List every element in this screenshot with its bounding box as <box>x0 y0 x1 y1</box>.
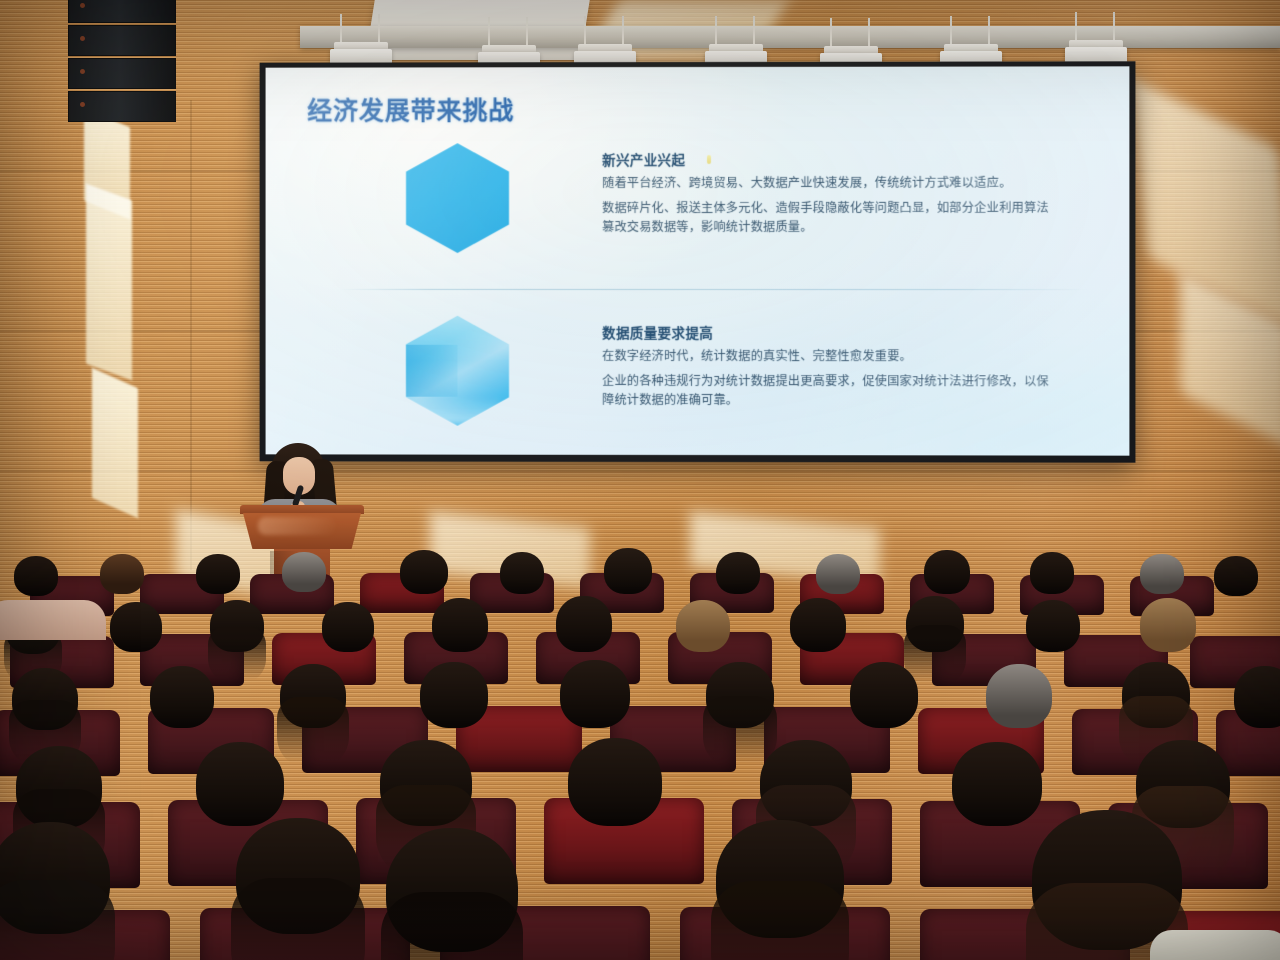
audience-head <box>676 600 730 652</box>
audience-head <box>906 596 964 652</box>
audience-head <box>1214 556 1258 596</box>
ceiling-truss <box>300 26 1280 48</box>
auditorium-scene: 经济发展带来挑战 新兴产业兴起 随着平台经济、跨境贸易、大数据产业快速发展，传统… <box>0 0 1280 960</box>
section-1-heading-text: 新兴产业兴起 <box>602 149 685 169</box>
hexagon-flat-icon <box>395 139 520 257</box>
audience-head <box>604 548 652 594</box>
audience-head <box>760 740 852 826</box>
audience-head <box>986 664 1052 728</box>
audience-head <box>1140 554 1184 594</box>
audience-head <box>952 742 1042 826</box>
speaker-module <box>68 0 176 23</box>
audience <box>0 540 1280 960</box>
audience-head <box>420 662 488 728</box>
audience-coat <box>1150 930 1280 960</box>
sunlight-patch <box>92 368 138 518</box>
projection-screen: 经济发展带来挑战 新兴产业兴起 随着平台经济、跨境贸易、大数据产业快速发展，传统… <box>260 61 1136 462</box>
audience-head <box>236 818 360 934</box>
presentation-slide: 经济发展带来挑战 新兴产业兴起 随着平台经济、跨境贸易、大数据产业快速发展，传统… <box>266 66 1130 455</box>
audience-head <box>12 668 78 730</box>
section-2-paragraph-1: 在数字经济时代，统计数据的真实性、完整性愈发重要。 <box>602 347 1061 366</box>
audience-head <box>1030 552 1074 594</box>
audience-head <box>432 598 488 652</box>
audience-head <box>322 602 374 652</box>
audience-head <box>1122 662 1190 728</box>
audience-head <box>560 660 630 728</box>
laser-pointer-dot <box>707 154 711 163</box>
section-divider <box>339 289 1089 290</box>
audience-head <box>14 556 58 596</box>
slide-section-2: 数据质量要求提高 在数字经济时代，统计数据的真实性、完整性愈发重要。 企业的各种… <box>395 312 1061 431</box>
audience-head <box>386 828 518 952</box>
audience-head <box>280 664 346 728</box>
audience-head <box>1026 600 1080 652</box>
audience-head <box>924 550 970 594</box>
audience-head <box>0 822 110 934</box>
speaker-module <box>68 91 176 122</box>
audience-head <box>196 742 284 826</box>
audience-head <box>282 552 326 592</box>
slide-section-1: 新兴产业兴起 随着平台经济、跨境贸易、大数据产业快速发展，传统统计方式难以适应。… <box>395 139 1061 257</box>
section-1-heading: 新兴产业兴起 <box>602 149 1061 169</box>
section-2-heading: 数据质量要求提高 <box>602 322 1061 342</box>
audience-coat <box>0 600 106 640</box>
audience-head <box>790 598 846 652</box>
section-2-heading-text: 数据质量要求提高 <box>602 322 713 342</box>
audience-head <box>210 600 264 652</box>
wall-seam <box>0 470 1280 472</box>
line-array-speaker-stack <box>68 0 178 122</box>
audience-head <box>850 662 918 728</box>
audience-head <box>716 552 760 594</box>
audience-head <box>568 738 662 826</box>
audience-head <box>1136 740 1230 828</box>
audience-head <box>380 740 472 826</box>
audience-head <box>1140 598 1196 652</box>
audience-head <box>706 662 774 728</box>
audience-head <box>196 554 240 594</box>
wall-seam <box>190 100 192 570</box>
audience-head <box>100 554 144 594</box>
slide-title: 经济发展带来挑战 <box>307 91 514 127</box>
speaker-module <box>68 25 176 56</box>
audience-head <box>716 820 844 938</box>
audience-head <box>400 550 448 594</box>
audience-head <box>816 554 860 594</box>
audience-head <box>110 602 162 652</box>
audience-head <box>1032 810 1182 950</box>
audience-head <box>150 666 214 728</box>
audience-head <box>16 746 102 828</box>
hexagon-cube-icon <box>395 312 520 430</box>
section-2-paragraph-2: 企业的各种违规行为对统计数据提出更高要求，促使国家对统计法进行修改，以保障统计数… <box>602 372 1061 410</box>
audience-head <box>500 552 544 594</box>
audience-head <box>1234 666 1280 728</box>
section-1-paragraph-2: 数据碎片化、报送主体多元化、造假手段隐蔽化等问题凸显，如部分企业利用算法篡改交易… <box>602 199 1061 237</box>
speaker-module <box>68 58 176 89</box>
sunlight-patch <box>86 184 132 381</box>
section-1-paragraph-1: 随着平台经济、跨境贸易、大数据产业快速发展，传统统计方式难以适应。 <box>602 174 1061 193</box>
audience-head <box>556 596 612 652</box>
